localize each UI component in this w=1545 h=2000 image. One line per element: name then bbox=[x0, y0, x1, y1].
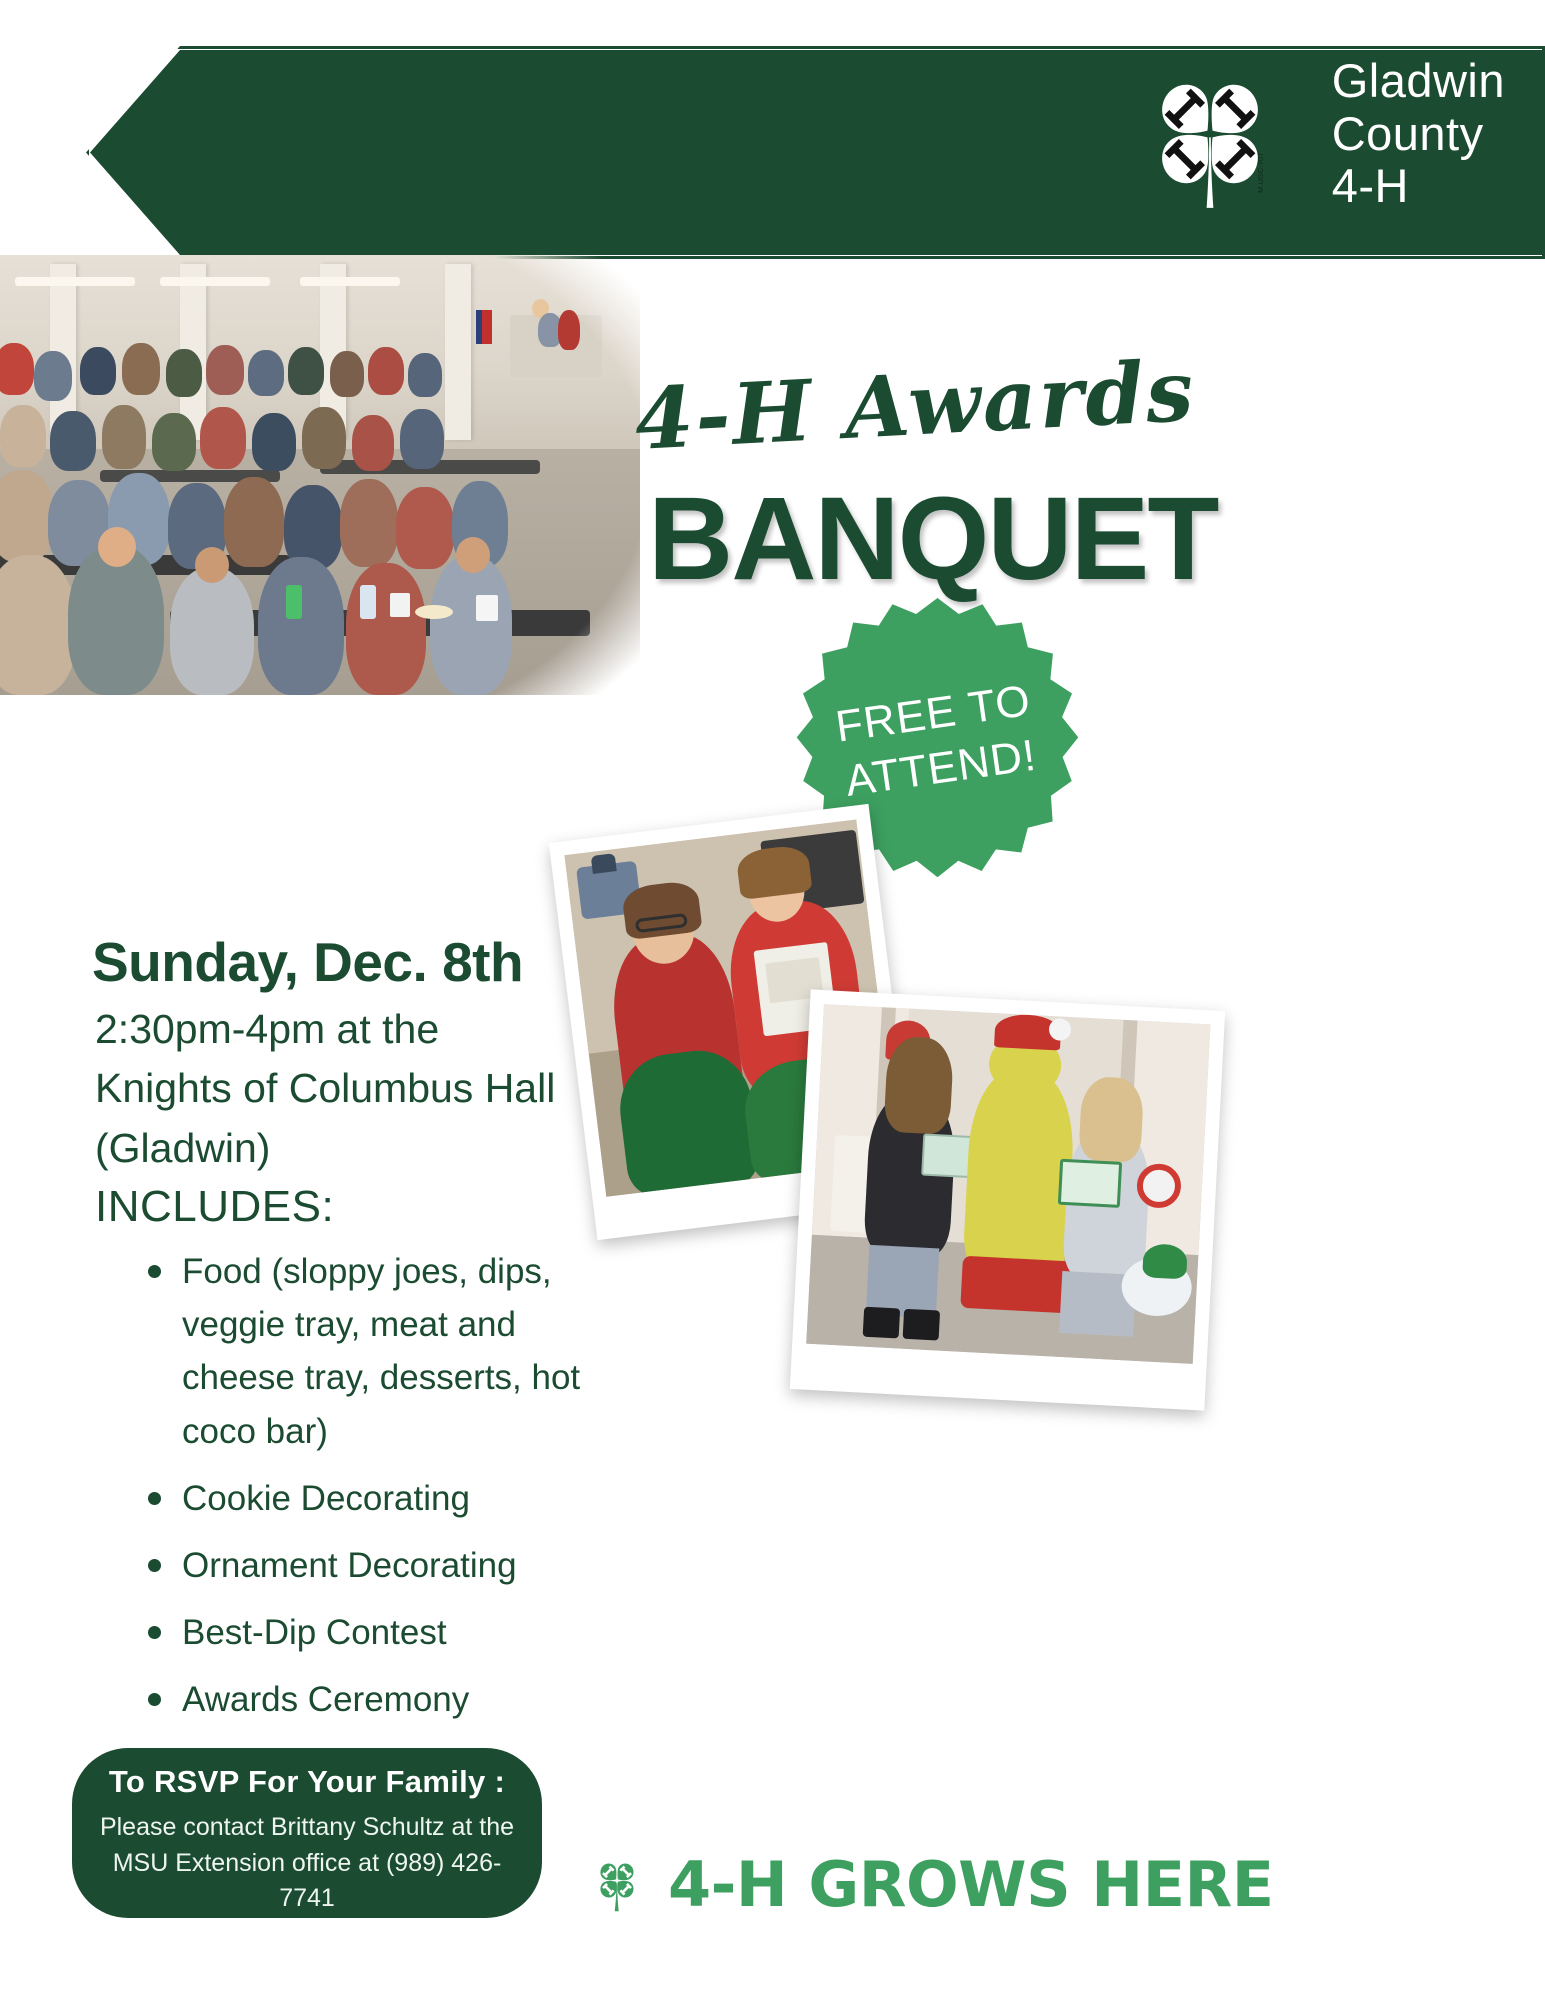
includes-list: Food (sloppy joes, dips, veggie tray, me… bbox=[140, 1245, 630, 1741]
list-item: Cookie Decorating bbox=[140, 1472, 630, 1525]
org-name-line-1: Gladwin bbox=[1332, 55, 1505, 108]
rsvp-contact-info: Please contact Brittany Schultz at the M… bbox=[92, 1810, 522, 1917]
list-item: Best-Dip Contest bbox=[140, 1606, 630, 1659]
list-item: Ornament Decorating bbox=[140, 1539, 630, 1592]
free-to-attend-badge-text: FREE TO ATTEND! bbox=[833, 672, 1042, 808]
event-title: BANQUET bbox=[648, 480, 1208, 598]
org-name-line-3: 4-H bbox=[1332, 160, 1505, 213]
four-leaf-clover-icon: M.UGC-707 bbox=[1126, 50, 1294, 218]
rsvp-box: To RSVP For Your Family : Please contact… bbox=[72, 1748, 542, 1918]
four-leaf-clover-icon bbox=[588, 1851, 646, 1918]
footer-slogan-text: 4-H GROWS HERE bbox=[668, 1848, 1274, 1921]
includes-label: INCLUDES: bbox=[95, 1182, 334, 1232]
banquet-hall-photo bbox=[0, 255, 640, 695]
header-content: M.UGC-707 Gladwin County 4-H bbox=[1126, 50, 1505, 218]
list-item: Awards Ceremony bbox=[140, 1673, 630, 1726]
rsvp-title: To RSVP For Your Family : bbox=[92, 1764, 522, 1800]
event-location: 2:30pm-4pm at the Knights of Columbus Ha… bbox=[95, 1000, 565, 1178]
org-name-line-2: County bbox=[1332, 108, 1505, 161]
list-item: Food (sloppy joes, dips, veggie tray, me… bbox=[140, 1245, 630, 1458]
organization-name: Gladwin County 4-H bbox=[1332, 55, 1505, 213]
photo-polaroid-grinch-group bbox=[790, 989, 1225, 1410]
footer-slogan: 4-H GROWS HERE bbox=[588, 1848, 1274, 1921]
clover-trademark-mark: M.UGC-707 bbox=[1256, 153, 1265, 193]
event-date: Sunday, Dec. 8th bbox=[92, 930, 523, 994]
event-subtitle-script: 4-H Awards bbox=[633, 349, 1197, 462]
